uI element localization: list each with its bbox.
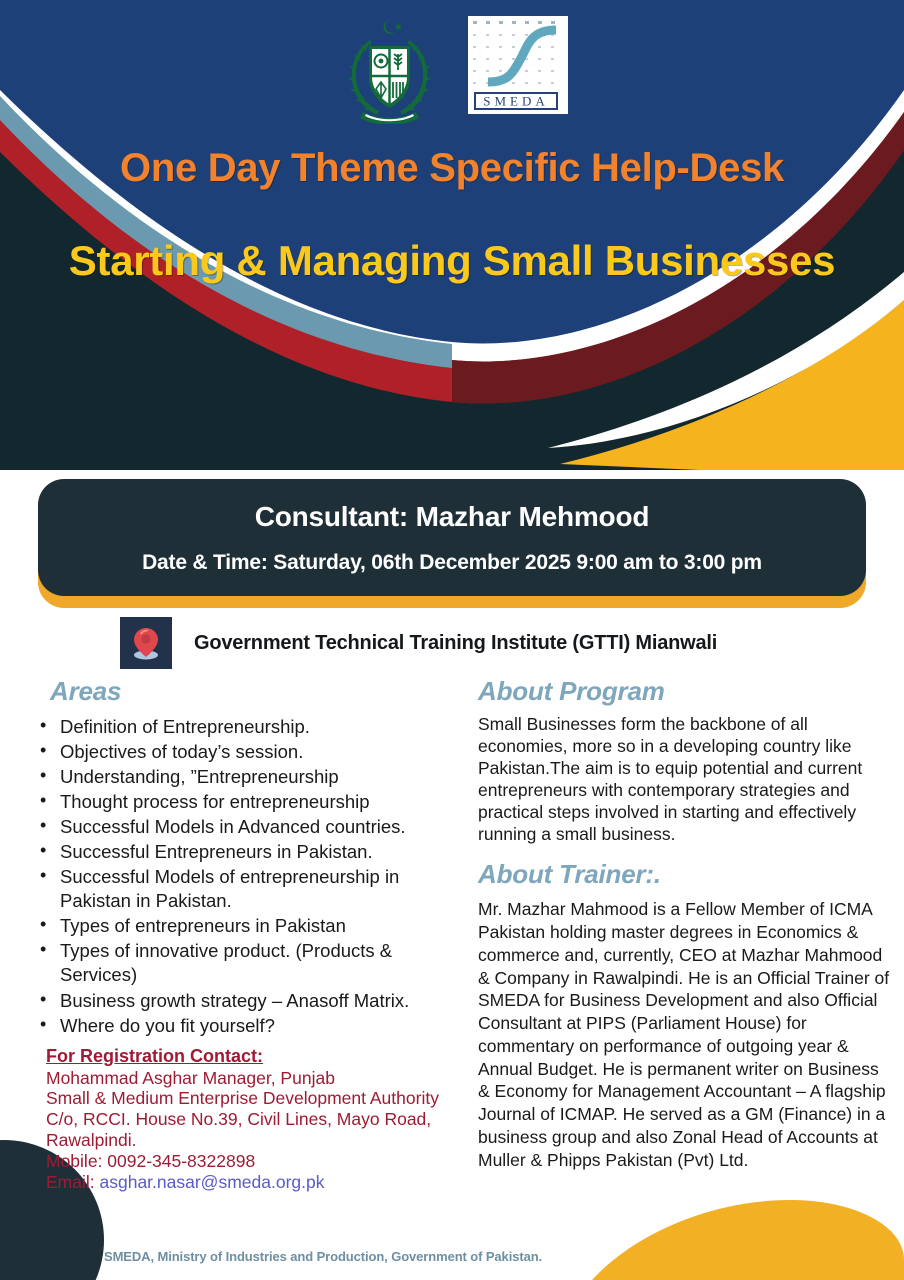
list-item: Successful Models in Advanced countries. [36,815,462,839]
flyer-poster: SMEDA One Day Theme Specific Help-Desk S… [0,0,904,1280]
venue-name: Government Technical Training Institute … [194,632,717,655]
list-item: Successful Entrepreneurs in Pakistan. [36,840,462,864]
registration-block: For Registration Contact: Mohammad Asgha… [14,1046,462,1193]
list-item: Where do you fit yourself? [36,1014,462,1038]
flyer-title-secondary: Starting & Managing Small Businesses [0,228,904,293]
smeda-wordmark: SMEDA [483,94,549,109]
registration-email-link[interactable]: asghar.nasar@smeda.org.pk [100,1172,325,1192]
footer-note: SMEDA, Ministry of Industries and Produc… [104,1249,542,1264]
registration-line: C/o, RCCI. House No.39, Civil Lines, May… [46,1109,462,1130]
list-item: Thought process for entrepreneurship [36,790,462,814]
areas-heading: Areas [50,676,462,707]
registration-line: Mohammad Asghar Manager, Punjab [46,1068,462,1089]
pakistan-government-emblem-icon [337,16,442,124]
registration-heading: For Registration Contact: [46,1046,462,1067]
list-item: Business growth strategy – Anasoff Matri… [36,989,462,1013]
column-about: About Program Small Businesses form the … [478,676,890,1171]
consultant-box: Consultant: Mazhar Mehmood Date & Time: … [38,479,866,596]
flyer-title-primary: One Day Theme Specific Help-Desk [0,146,904,191]
list-item: Definition of Entrepreneurship. [36,715,462,739]
registration-email-label: Email: [46,1172,95,1192]
consultant-datetime: Date & Time: Saturday, 06th December 202… [142,551,762,575]
about-trainer-text: Mr. Mazhar Mahmood is a Fellow Member of… [478,898,890,1171]
list-item: Types of innovative product. (Products &… [36,939,462,987]
location-pin-icon [120,617,172,669]
list-item: Successful Models of entrepreneurship in… [36,865,462,913]
about-program-text: Small Businesses form the backbone of al… [478,713,890,845]
consultant-name: Consultant: Mazhar Mehmood [255,501,650,533]
registration-mobile: Mobile: 0092-345-8322898 [46,1151,462,1172]
list-item: Objectives of today’s session. [36,740,462,764]
about-trainer-heading: About Trainer:. [478,859,890,890]
smeda-logo-icon: SMEDA [468,16,568,114]
venue-row: Government Technical Training Institute … [120,617,717,669]
list-item: Understanding, ”Entrepreneurship [36,765,462,789]
column-areas: Areas Definition of Entrepreneurship. Ob… [14,676,462,1192]
registration-email-row: Email: asghar.nasar@smeda.org.pk [46,1172,462,1193]
logo-row: SMEDA [0,16,904,124]
about-program-heading: About Program [478,676,890,707]
list-item: Types of entrepreneurs in Pakistan [36,914,462,938]
registration-line: Small & Medium Enterprise Development Au… [46,1088,462,1109]
areas-list: Definition of Entrepreneurship. Objectiv… [14,715,462,1038]
registration-line: Rawalpindi. [46,1130,462,1151]
